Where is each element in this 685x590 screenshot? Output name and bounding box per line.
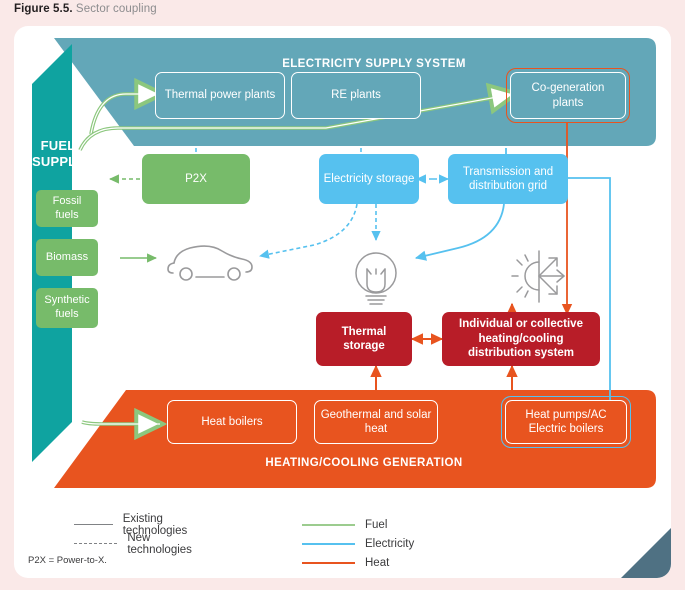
legend-label-electricity: Electricity bbox=[365, 538, 414, 550]
box-heat-pumps[interactable]: Heat pumps/AC Electric boilers bbox=[505, 400, 627, 444]
fuel-supply-label: FUEL SUPPLY bbox=[30, 138, 86, 171]
legend-label-fuel: Fuel bbox=[365, 519, 387, 531]
legend-label-heat: Heat bbox=[365, 557, 389, 569]
legend-item-new-technologies: New technologies bbox=[74, 534, 202, 553]
lightbulb-icon bbox=[356, 253, 396, 304]
legend-column-technologies: Existing technologies New technologies bbox=[74, 515, 202, 553]
legend-swatch-fuel bbox=[302, 524, 355, 526]
heating-cooling-icon bbox=[512, 251, 564, 302]
legend-item-electricity: Electricity bbox=[302, 534, 414, 553]
box-thermal-power-plants[interactable]: Thermal power plants bbox=[155, 72, 285, 119]
figure-number: Figure 5.5. bbox=[14, 3, 73, 15]
box-p2x[interactable]: P2X bbox=[142, 154, 250, 204]
box-thermal-storage[interactable]: Thermal storage bbox=[316, 312, 412, 366]
fuel-chip-synthetic-fuels[interactable]: Synthetic fuels bbox=[36, 288, 98, 328]
figure-caption: Figure 5.5. Sector coupling bbox=[14, 3, 157, 15]
box-distribution-system[interactable]: Individual or collective heating/cooling… bbox=[442, 312, 600, 366]
arrow-storage-to-car bbox=[260, 204, 357, 256]
figure-card: ELECTRICITY SUPPLY SYSTEM HEATING/COOLIN… bbox=[14, 26, 671, 578]
legend-label-new-technologies: New technologies bbox=[127, 532, 201, 556]
legend-swatch-dashed-gray bbox=[74, 543, 117, 544]
heating-panel-label: HEATING/COOLING GENERATION bbox=[134, 457, 594, 469]
legend-swatch-electricity bbox=[302, 543, 355, 545]
legend-swatch-heat bbox=[302, 562, 355, 564]
box-transmission-distribution-grid[interactable]: Transmission and distribution grid bbox=[448, 154, 568, 204]
arrow-grid-to-heat-pumps bbox=[554, 178, 610, 414]
legend-column-carriers: Fuel Electricity Heat bbox=[302, 515, 414, 572]
corner-decoration bbox=[621, 528, 671, 578]
fuel-chip-biomass[interactable]: Biomass bbox=[36, 239, 98, 276]
box-electricity-storage[interactable]: Electricity storage bbox=[319, 154, 419, 204]
box-heat-boilers[interactable]: Heat boilers bbox=[167, 400, 297, 444]
footnote: P2X = Power-to-X. bbox=[28, 555, 107, 566]
box-cogeneration-plants[interactable]: Co-generation plants bbox=[510, 72, 626, 119]
legend-item-fuel: Fuel bbox=[302, 515, 414, 534]
box-re-plants[interactable]: RE plants bbox=[291, 72, 421, 119]
legend-item-heat: Heat bbox=[302, 553, 414, 572]
fuel-chip-fossil-fuels[interactable]: Fossil fuels bbox=[36, 190, 98, 227]
legend-swatch-solid-gray bbox=[74, 524, 113, 525]
car-icon bbox=[168, 246, 252, 280]
arrow-grid-to-lighting bbox=[416, 204, 504, 258]
figure-title: Sector coupling bbox=[76, 3, 157, 15]
box-geothermal-solar-heat[interactable]: Geothermal and solar heat bbox=[314, 400, 438, 444]
